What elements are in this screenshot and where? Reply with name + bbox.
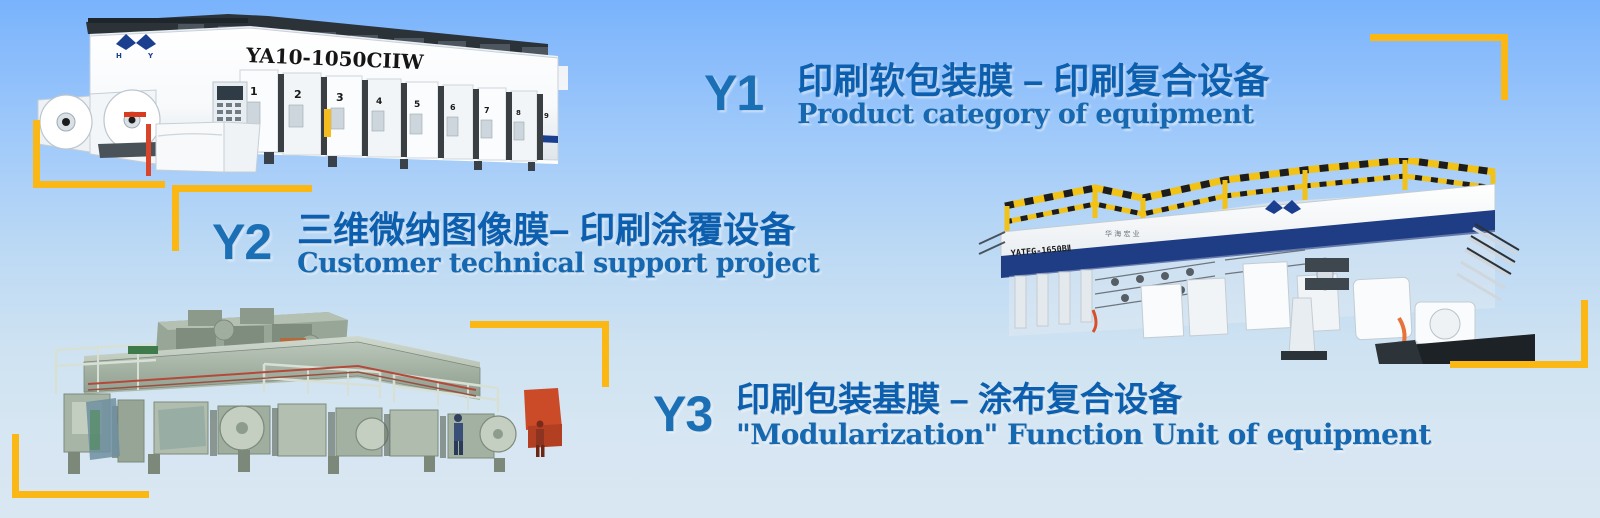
- bracket-middle-center-vertical: [602, 321, 609, 387]
- entry-code-y1: Y1: [704, 68, 763, 118]
- bracket-top-right-vertical: [1501, 34, 1508, 100]
- bracket-middle-center-horizontal: [470, 321, 609, 328]
- machine-image-coating-laminating-production-line: [28, 306, 573, 478]
- svg-text:2: 2: [294, 88, 302, 101]
- entry-code-y2: Y2: [212, 217, 271, 267]
- entry-title-en-y1: Product category of equipment: [797, 101, 1269, 129]
- bracket-middle-left-vertical: [172, 185, 179, 251]
- svg-text:9: 9: [544, 112, 549, 120]
- bracket-middle-right-vertical: [1581, 300, 1588, 368]
- bracket-middle-right-horizontal: [1450, 361, 1588, 368]
- entry-block-y1: Y1 印刷软包装膜 – 印刷复合设备 Product category of e…: [704, 62, 1269, 129]
- bracket-middle-left-horizontal: [172, 185, 312, 192]
- entry-title-cn-y2: 三维微纳图像膜– 印刷涂覆设备: [297, 211, 819, 249]
- svg-text:6: 6: [450, 103, 456, 112]
- machine-image-gravure-printing-press: YA10-1050CIIW H Y: [28, 4, 598, 184]
- svg-text:Y: Y: [147, 52, 154, 60]
- svg-text:1: 1: [250, 85, 258, 98]
- svg-text:华 海 宏 业: 华 海 宏 业: [1105, 229, 1140, 238]
- bracket-top-left-horizontal: [33, 181, 165, 188]
- svg-text:3: 3: [336, 91, 344, 104]
- promo-banner: YA10-1050CIIW H Y: [0, 0, 1600, 518]
- entry-text-y3: 印刷包装基膜 – 涂布复合设备 "Modularization" Functio…: [736, 383, 1431, 449]
- bracket-bottom-left-horizontal: [12, 491, 149, 498]
- entry-title-en-y3: "Modularization" Function Unit of equipm…: [736, 420, 1431, 449]
- bracket-top-left-vertical: [33, 120, 40, 188]
- entry-text-y1: 印刷软包装膜 – 印刷复合设备 Product category of equi…: [797, 62, 1269, 129]
- svg-text:5: 5: [414, 100, 420, 110]
- machine-image-dry-lamination-coating-machine: 华 海 宏 业 YATFG-1650BⅡ: [975, 158, 1535, 373]
- entry-block-y2: Y2 三维微纳图像膜– 印刷涂覆设备 Customer technical su…: [212, 211, 819, 278]
- entry-title-en-y2: Customer technical support project: [297, 250, 819, 278]
- svg-text:7: 7: [484, 106, 490, 115]
- bracket-bottom-left-vertical: [12, 434, 19, 498]
- svg-text:H: H: [116, 52, 122, 60]
- entry-title-cn-y3: 印刷包装基膜 – 涂布复合设备: [736, 383, 1431, 419]
- bracket-top-right-horizontal: [1370, 34, 1508, 41]
- svg-text:8: 8: [516, 109, 521, 117]
- entry-code-y3: Y3: [653, 389, 712, 439]
- entry-block-y3: Y3 印刷包装基膜 – 涂布复合设备 "Modularization" Func…: [653, 383, 1431, 449]
- svg-text:4: 4: [376, 97, 382, 107]
- entry-title-cn-y1: 印刷软包装膜 – 印刷复合设备: [797, 62, 1269, 100]
- entry-text-y2: 三维微纳图像膜– 印刷涂覆设备 Customer technical suppo…: [297, 211, 819, 278]
